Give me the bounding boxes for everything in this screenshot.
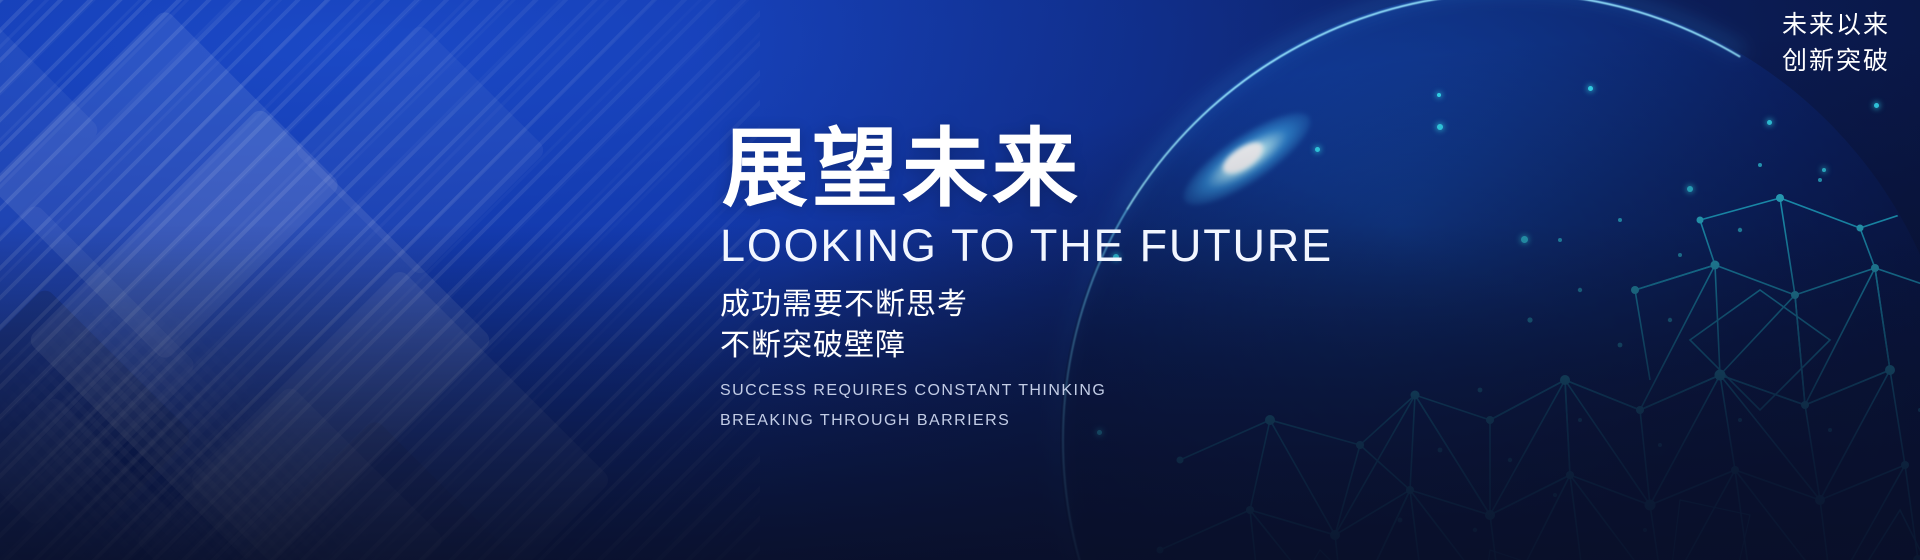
subtitle-chinese-line1: 成功需要不断思考: [720, 285, 1338, 326]
page-title: 展望未来: [722, 126, 1338, 212]
subtitle-english-line2: BREAKING THROUGH BARRIERS: [720, 406, 1338, 436]
subtitle-chinese: 成功需要不断思考 不断突破壁障: [720, 285, 1338, 366]
headline-block: 展望未来 LOOKING TO THE FUTURE 成功需要不断思考 不断突破…: [718, 126, 1338, 435]
subtitle-english: SUCCESS REQUIRES CONSTANT THINKING BREAK…: [720, 376, 1338, 435]
corner-tagline: 未来以来 创新突破: [1782, 8, 1890, 79]
subtitle-english-line1: SUCCESS REQUIRES CONSTANT THINKING: [720, 376, 1338, 406]
corner-tagline-line2: 创新突破: [1782, 44, 1890, 80]
subtitle-chinese-line2: 不断突破壁障: [720, 326, 1338, 367]
page-title-english: LOOKING TO THE FUTURE: [720, 222, 1338, 269]
corner-tagline-line1: 未来以来: [1782, 8, 1890, 44]
banner-root: 未来以来 创新突破 展望未来 LOOKING TO THE FUTURE 成功需…: [0, 0, 1920, 560]
